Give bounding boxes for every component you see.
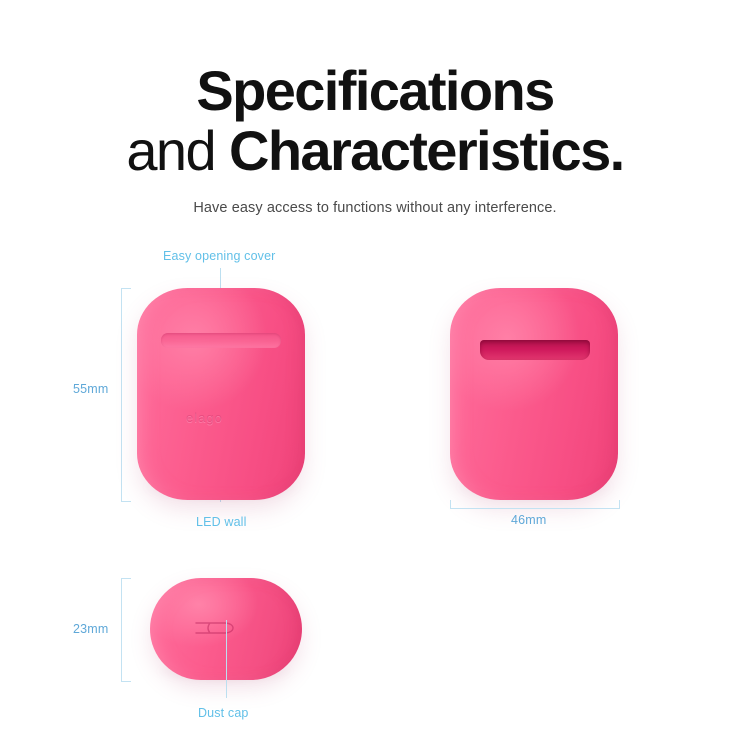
leader-line-dust-cap bbox=[226, 620, 227, 698]
annotation-led-wall: LED wall bbox=[196, 515, 247, 529]
lid-opening-slot bbox=[161, 333, 281, 348]
dimension-bracket-height bbox=[121, 288, 131, 502]
page-title-conjunction: and bbox=[126, 119, 229, 182]
dust-cap-outline bbox=[194, 616, 240, 640]
page-subtitle: Have easy access to functions without an… bbox=[0, 200, 750, 216]
dimension-label-height: 55mm bbox=[73, 382, 109, 396]
page-title-line-1: Specifications bbox=[0, 62, 750, 120]
dimension-label-width: 46mm bbox=[511, 513, 547, 527]
dimension-label-depth: 23mm bbox=[73, 622, 109, 636]
annotation-easy-opening-cover: Easy opening cover bbox=[163, 249, 276, 263]
infographic-page: Specifications and Characteristics. Have… bbox=[0, 0, 750, 750]
product-case-back-view bbox=[450, 288, 618, 500]
header: Specifications and Characteristics. Have… bbox=[0, 62, 750, 216]
dimension-bracket-width bbox=[450, 500, 620, 509]
dimension-bracket-depth bbox=[121, 578, 131, 682]
page-title-emphasis: Characteristics. bbox=[229, 119, 624, 182]
annotation-dust-cap: Dust cap bbox=[198, 706, 249, 720]
brand-logo-elago: elago bbox=[186, 410, 223, 425]
page-title-line-2: and Characteristics. bbox=[0, 122, 750, 180]
product-case-front-view: elago bbox=[137, 288, 305, 500]
led-wall-opening bbox=[480, 340, 590, 360]
